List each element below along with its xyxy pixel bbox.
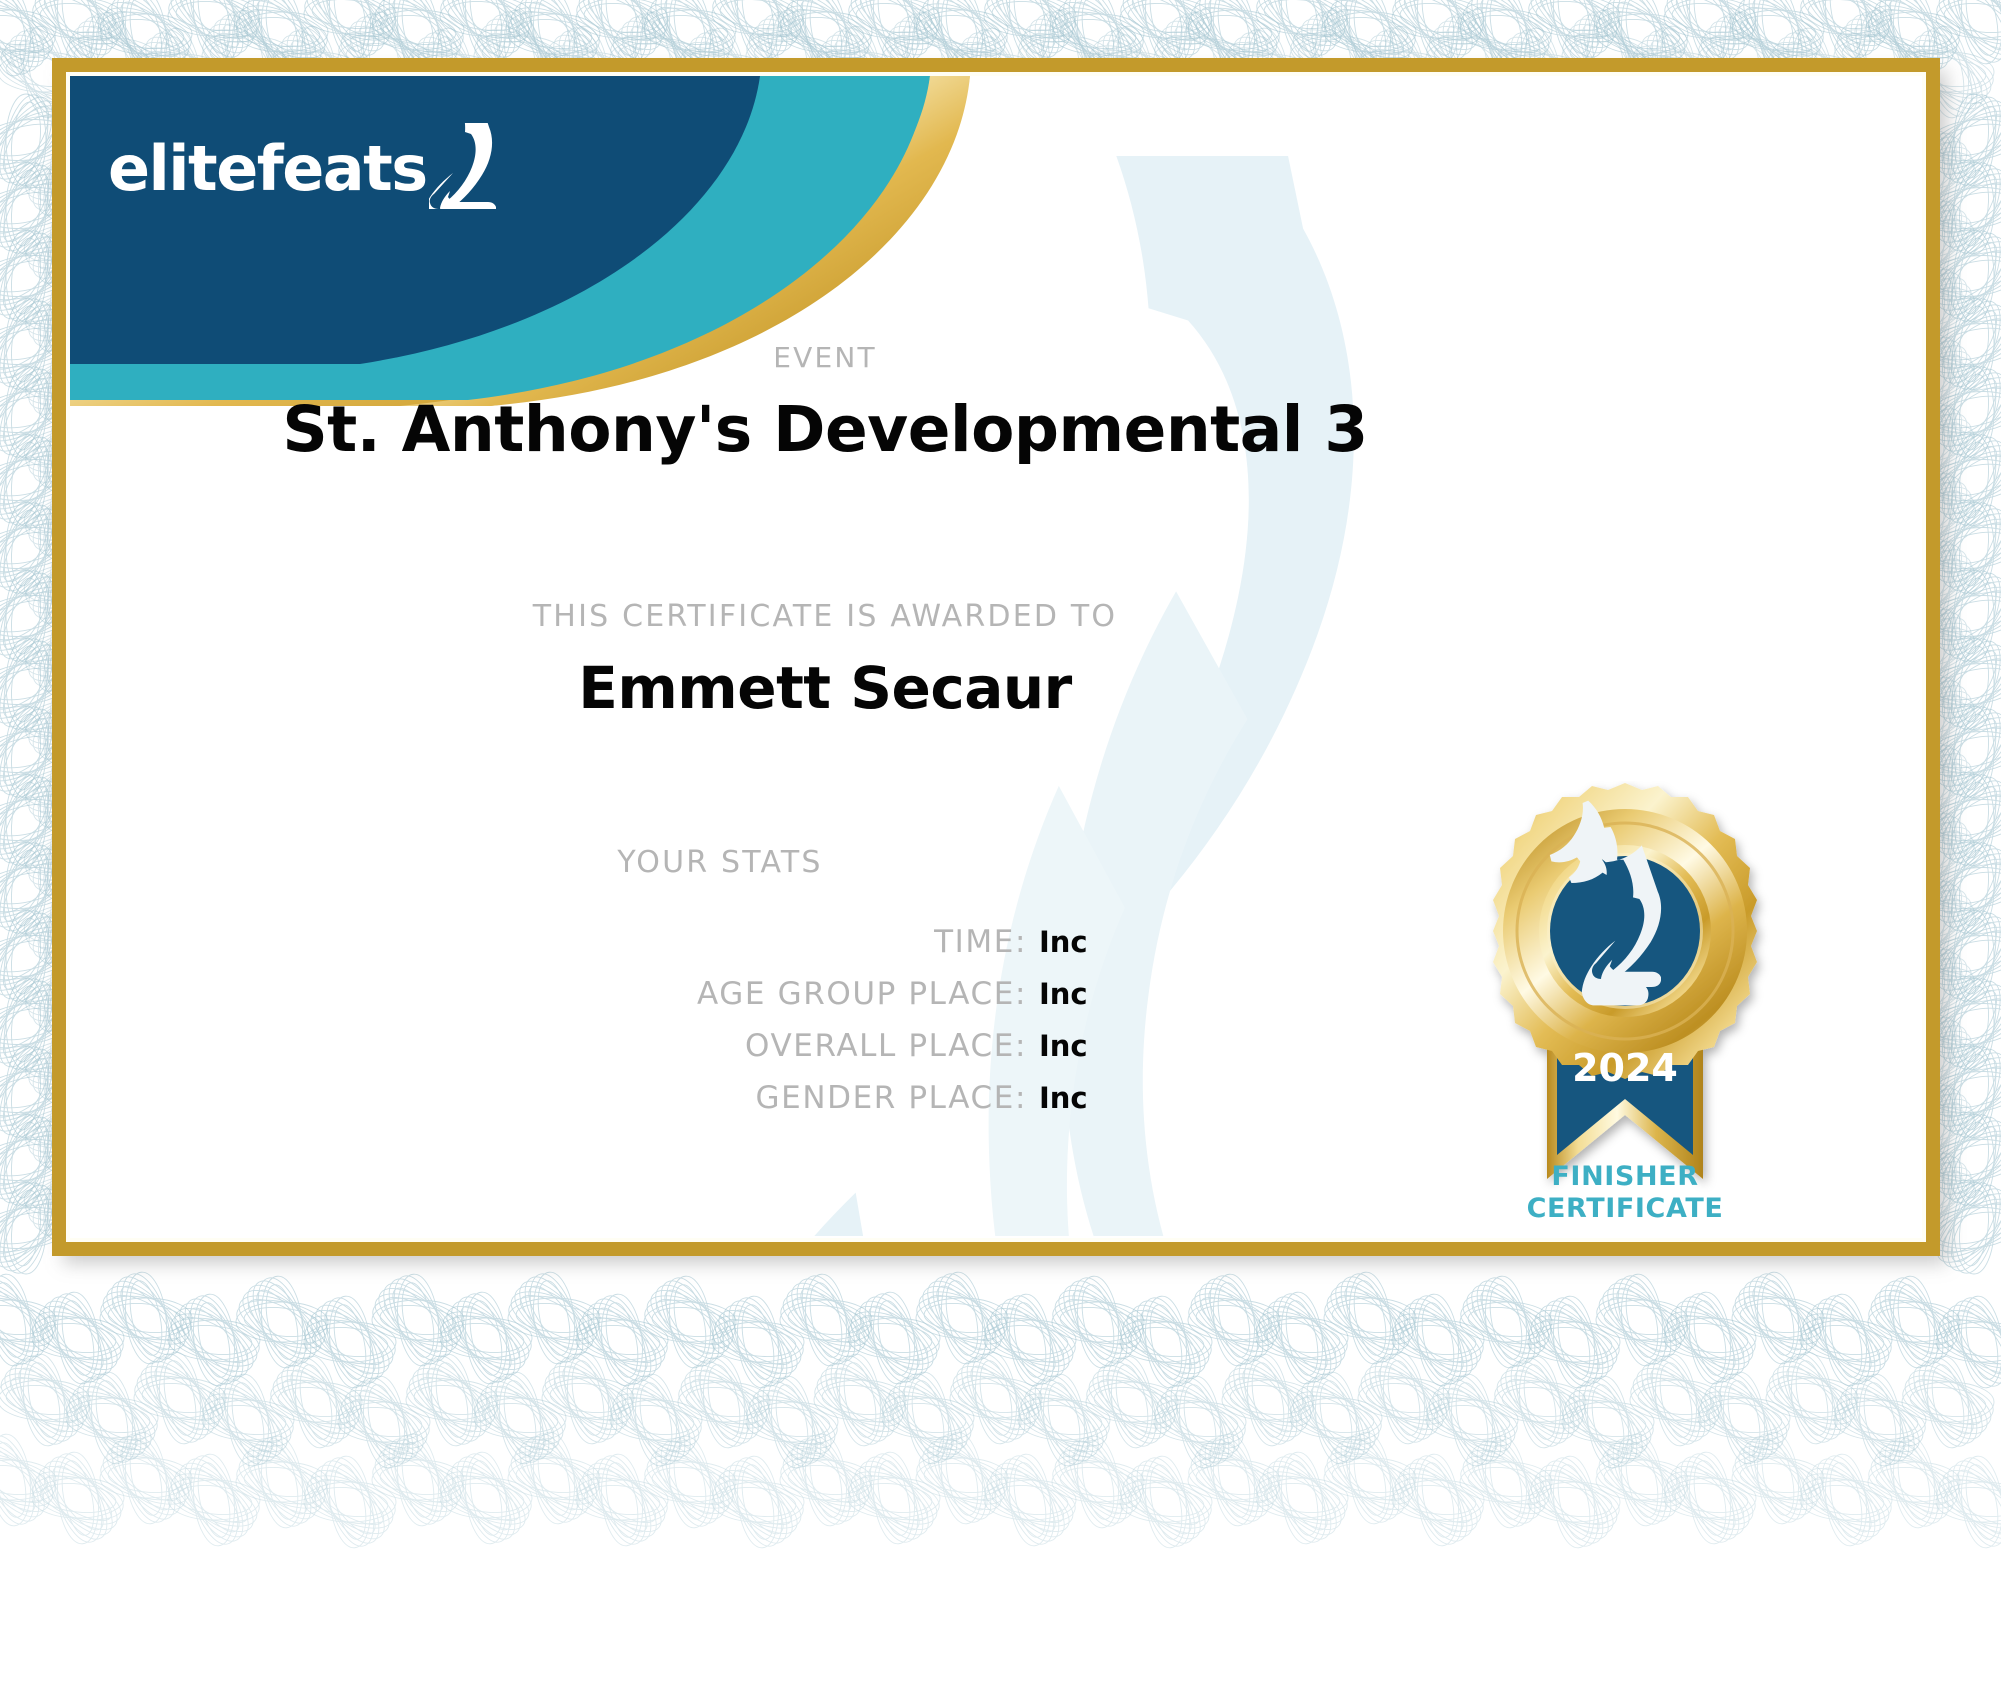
stat-row-overall-place: OVERALL PLACE: Inc xyxy=(70,1028,1095,1064)
stat-label-overall-place: OVERALL PLACE: xyxy=(745,1028,1027,1064)
stats-list: TIME: Inc AGE GROUP PLACE: Inc OVERALL P… xyxy=(70,924,1095,1132)
stat-value-age-group-place: Inc xyxy=(1039,977,1095,1011)
seal-caption-line1: FINISHER xyxy=(1445,1161,1805,1193)
stat-label-age-group-place: AGE GROUP PLACE: xyxy=(697,976,1027,1012)
event-label: EVENT xyxy=(70,341,1580,374)
stat-label-time: TIME: xyxy=(934,924,1027,960)
your-stats-label: YOUR STATS xyxy=(70,845,1370,880)
awarded-to-label: THIS CERTIFICATE IS AWARDED TO xyxy=(70,599,1580,634)
stat-value-gender-place: Inc xyxy=(1039,1081,1095,1115)
stat-row-time: TIME: Inc xyxy=(70,924,1095,960)
seal-caption: FINISHER CERTIFICATE xyxy=(1445,1161,1805,1225)
seal-year-text: 2024 xyxy=(1572,1046,1678,1090)
certificate-content: EVENT St. Anthony's Developmental 3 THIS… xyxy=(70,76,1922,1238)
certificate-page: elitefeats EVENT St. Anthony's Developme… xyxy=(0,0,2001,1700)
event-title: St. Anthony's Developmental 3 xyxy=(70,393,1580,466)
stat-row-age-group-place: AGE GROUP PLACE: Inc xyxy=(70,976,1095,1012)
recipient-name: Emmett Secaur xyxy=(70,654,1580,722)
stat-value-time: Inc xyxy=(1039,925,1095,959)
seal-caption-line2: CERTIFICATE xyxy=(1445,1193,1805,1225)
stat-label-gender-place: GENDER PLACE: xyxy=(756,1080,1027,1116)
stat-value-overall-place: Inc xyxy=(1039,1029,1095,1063)
certificate-card: elitefeats EVENT St. Anthony's Developme… xyxy=(70,76,1922,1238)
finisher-seal: 2024 xyxy=(1475,781,1775,1211)
stat-row-gender-place: GENDER PLACE: Inc xyxy=(70,1080,1095,1116)
